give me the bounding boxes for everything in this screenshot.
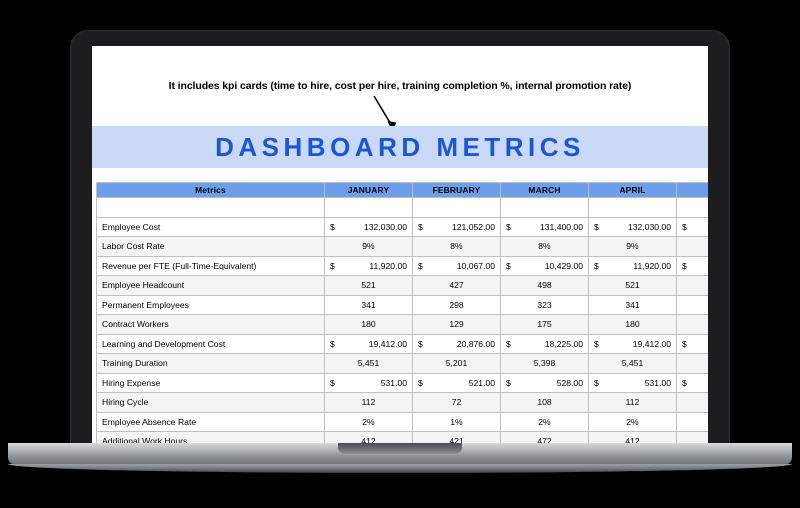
row-overflow-cell[interactable] (677, 237, 709, 257)
row-value[interactable]: 9% (589, 237, 677, 257)
clipped-cell (97, 198, 325, 218)
row-value[interactable]: 112 (325, 393, 413, 413)
row-value[interactable]: 498 (501, 276, 589, 296)
currency-symbol: $ (330, 339, 335, 349)
clipped-cell (589, 198, 677, 218)
row-label[interactable]: Employee Cost (97, 217, 325, 237)
row-value[interactable]: 2% (501, 412, 589, 432)
table-row[interactable]: Labor Cost Rate9%8%8%9% (97, 237, 709, 257)
row-value[interactable]: $11,920.00 (325, 256, 413, 276)
table-row[interactable]: Learning and Development Cost$19,412.00$… (97, 334, 709, 354)
clipped-row (97, 198, 709, 218)
row-overflow-cell[interactable] (677, 354, 709, 374)
metrics-table-body: Employee Cost$132,030.00$121,052.00$131,… (97, 198, 709, 445)
row-value[interactable]: $20,876.00 (413, 334, 501, 354)
row-value[interactable]: $10,429.00 (501, 256, 589, 276)
row-overflow-cell[interactable] (677, 393, 709, 413)
row-label[interactable]: Employee Headcount (97, 276, 325, 296)
currency-symbol: $ (418, 339, 423, 349)
currency-symbol: $ (330, 222, 335, 232)
row-value[interactable]: $521.00 (413, 373, 501, 393)
row-value[interactable]: 5,451 (589, 354, 677, 374)
row-overflow-cell[interactable]: $ (677, 373, 709, 393)
row-value[interactable]: $121,052.00 (413, 217, 501, 237)
row-overflow-cell[interactable]: $ (677, 217, 709, 237)
row-value[interactable]: 108 (501, 393, 589, 413)
row-value[interactable]: 5,398 (501, 354, 589, 374)
clipped-cell (325, 198, 413, 218)
row-label[interactable]: Contract Workers (97, 315, 325, 335)
row-value[interactable]: 180 (325, 315, 413, 335)
col-header-april[interactable]: APRIL (589, 183, 677, 198)
currency-symbol: $ (418, 222, 423, 232)
row-value[interactable]: 2% (589, 412, 677, 432)
col-header-next[interactable] (677, 183, 709, 198)
table-row[interactable]: Employee Headcount521427498521 (97, 276, 709, 296)
row-value[interactable]: 9% (325, 237, 413, 257)
clipped-cell (501, 198, 589, 218)
row-value[interactable]: 521 (325, 276, 413, 296)
table-row[interactable]: Revenue per FTE (Full-Time-Equivalent)$1… (97, 256, 709, 276)
row-value[interactable]: 129 (413, 315, 501, 335)
metrics-table-wrapper: Metrics JANUARY FEBRUARY MARCH APRIL Emp… (96, 182, 708, 444)
row-value[interactable]: 427 (413, 276, 501, 296)
table-row[interactable]: Hiring Cycle11272108112 (97, 393, 709, 413)
row-value[interactable]: 72 (413, 393, 501, 413)
row-value[interactable]: $11,920.00 (589, 256, 677, 276)
row-value[interactable]: $132,030.00 (589, 217, 677, 237)
row-value[interactable]: $19,412.00 (325, 334, 413, 354)
currency-symbol: $ (594, 222, 599, 232)
dashboard-banner: DASHBOARD METRICS (92, 126, 708, 168)
row-label[interactable]: Hiring Cycle (97, 393, 325, 413)
metrics-table: Metrics JANUARY FEBRUARY MARCH APRIL Emp… (96, 182, 708, 444)
laptop-base-notch (338, 443, 462, 454)
row-value[interactable]: 8% (501, 237, 589, 257)
row-label[interactable]: Revenue per FTE (Full-Time-Equivalent) (97, 256, 325, 276)
row-value[interactable]: $19,412.00 (589, 334, 677, 354)
currency-symbol: $ (330, 261, 335, 271)
row-label[interactable]: Hiring Expense (97, 373, 325, 393)
row-value[interactable]: $528.00 (501, 373, 589, 393)
row-value[interactable]: 1% (413, 412, 501, 432)
row-value[interactable]: 341 (325, 295, 413, 315)
row-overflow-cell[interactable] (677, 412, 709, 432)
laptop-base-edge (8, 464, 792, 473)
row-overflow-cell[interactable] (677, 295, 709, 315)
laptop-screen: It includes kpi cards (time to hire, cos… (92, 46, 708, 444)
row-value[interactable]: $10,067.00 (413, 256, 501, 276)
currency-symbol: $ (594, 261, 599, 271)
row-label[interactable]: Employee Absence Rate (97, 412, 325, 432)
row-value[interactable]: 521 (589, 276, 677, 296)
currency-symbol: $ (418, 261, 423, 271)
row-value[interactable]: 298 (413, 295, 501, 315)
currency-symbol: $ (506, 378, 511, 388)
table-row[interactable]: Permanent Employees341298323341 (97, 295, 709, 315)
table-row[interactable]: Employee Absence Rate2%1%2%2% (97, 412, 709, 432)
row-overflow-cell[interactable] (677, 276, 709, 296)
currency-symbol: $ (506, 222, 511, 232)
table-row[interactable]: Hiring Expense$531.00$521.00$528.00$531.… (97, 373, 709, 393)
currency-symbol: $ (506, 339, 511, 349)
currency-symbol: $ (506, 261, 511, 271)
col-header-february[interactable]: FEBRUARY (413, 183, 501, 198)
row-value[interactable]: 5,451 (325, 354, 413, 374)
page-title: DASHBOARD METRICS (215, 132, 585, 163)
row-value[interactable]: 175 (501, 315, 589, 335)
row-value[interactable]: $531.00 (589, 373, 677, 393)
row-label[interactable]: Permanent Employees (97, 295, 325, 315)
row-value[interactable]: $531.00 (325, 373, 413, 393)
clipped-cell (677, 198, 709, 218)
currency-symbol: $ (330, 378, 335, 388)
row-value[interactable]: $131,400.00 (501, 217, 589, 237)
col-header-january[interactable]: JANUARY (325, 183, 413, 198)
table-row[interactable]: Contract Workers180129175180 (97, 315, 709, 335)
row-overflow-cell[interactable] (677, 315, 709, 335)
row-value[interactable]: $132,030.00 (325, 217, 413, 237)
table-row[interactable]: Training Duration5,4515,2015,3985,451 (97, 354, 709, 374)
row-label[interactable]: Learning and Development Cost (97, 334, 325, 354)
row-overflow-cell[interactable]: $ (677, 334, 709, 354)
annotation-text: It includes kpi cards (time to hire, cos… (92, 80, 708, 92)
col-header-march[interactable]: MARCH (501, 183, 589, 198)
table-header-row: Metrics JANUARY FEBRUARY MARCH APRIL (97, 183, 709, 198)
currency-symbol: $ (594, 339, 599, 349)
row-label[interactable]: Training Duration (97, 354, 325, 374)
screenshot-stage: It includes kpi cards (time to hire, cos… (0, 0, 800, 508)
row-value[interactable]: 8% (413, 237, 501, 257)
row-label[interactable]: Labor Cost Rate (97, 237, 325, 257)
row-value[interactable]: 323 (501, 295, 589, 315)
currency-symbol: $ (418, 378, 423, 388)
row-value[interactable]: $18,225.00 (501, 334, 589, 354)
clipped-cell (413, 198, 501, 218)
row-overflow-cell[interactable]: $ (677, 256, 709, 276)
col-header-metrics[interactable]: Metrics (97, 183, 325, 198)
row-value[interactable]: 180 (589, 315, 677, 335)
row-value[interactable]: 341 (589, 295, 677, 315)
table-row[interactable]: Employee Cost$132,030.00$121,052.00$131,… (97, 217, 709, 237)
row-value[interactable]: 2% (325, 412, 413, 432)
row-value[interactable]: 112 (589, 393, 677, 413)
row-value[interactable]: 5,201 (413, 354, 501, 374)
currency-symbol: $ (594, 378, 599, 388)
